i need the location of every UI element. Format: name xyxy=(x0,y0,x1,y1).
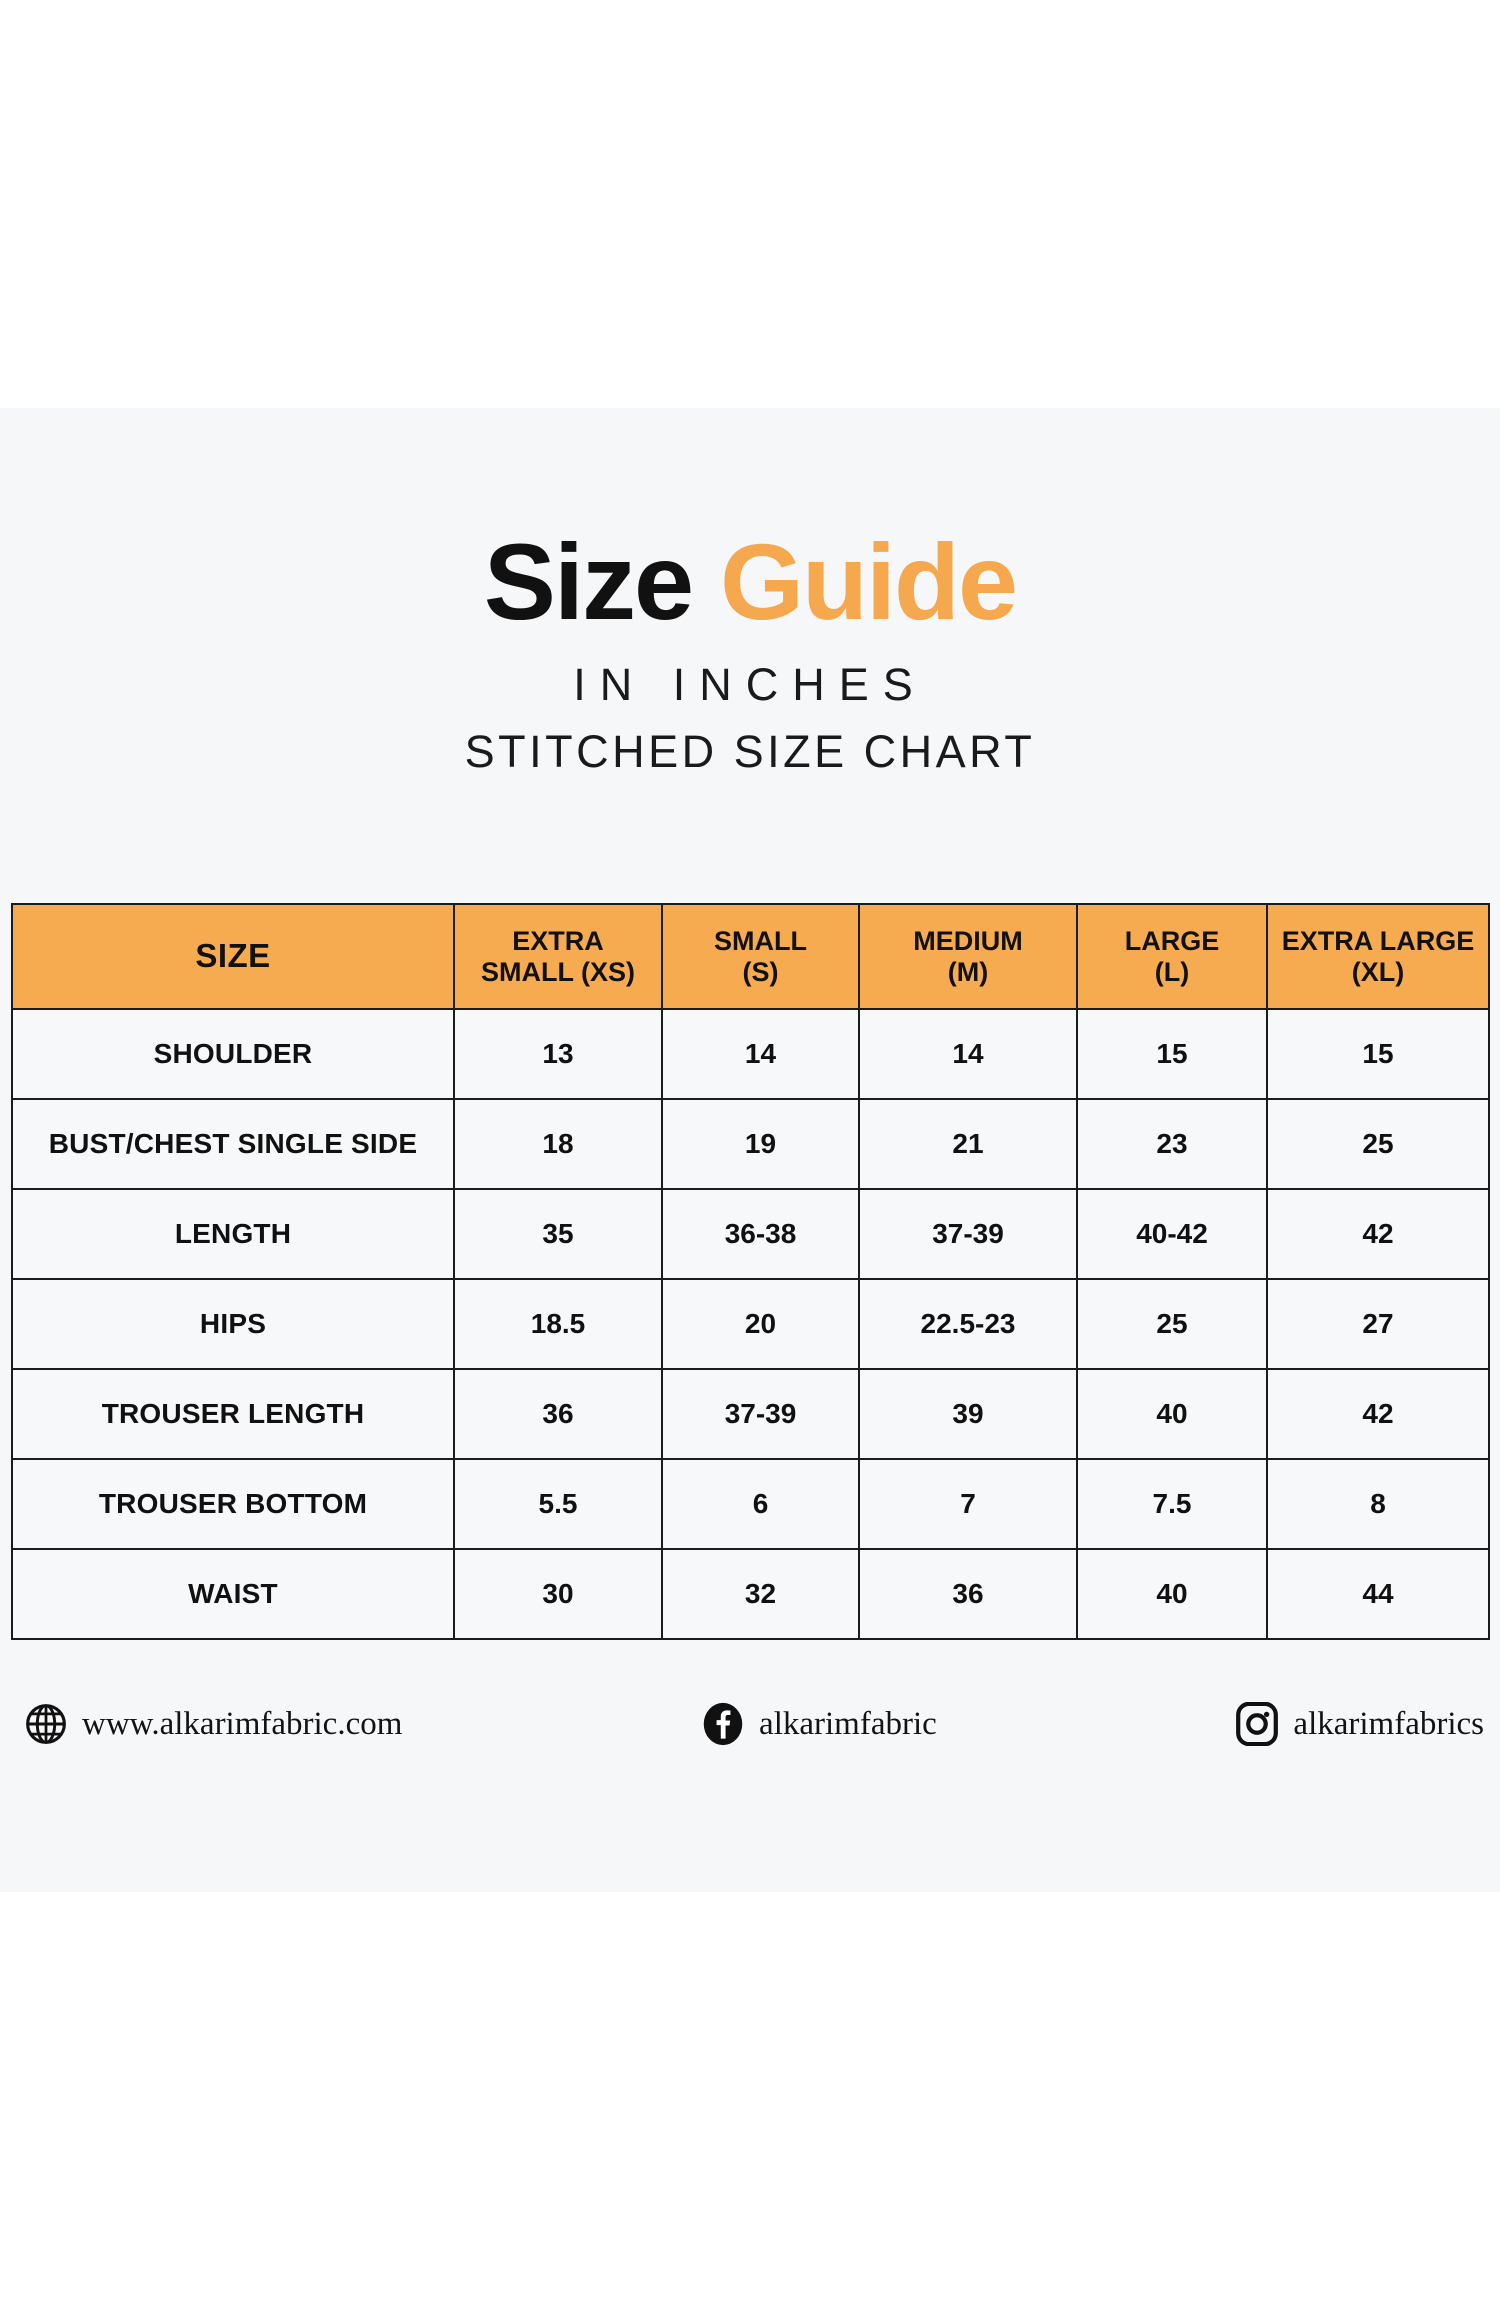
cell-value: 36-38 xyxy=(662,1189,859,1279)
table-row: WAIST 30 32 36 40 44 xyxy=(12,1549,1489,1639)
column-header-xl: EXTRA LARGE(XL) xyxy=(1267,904,1489,1009)
cell-value: 36 xyxy=(859,1549,1077,1639)
row-label: TROUSER LENGTH xyxy=(12,1369,454,1459)
table-row: TROUSER BOTTOM 5.5 6 7 7.5 8 xyxy=(12,1459,1489,1549)
cell-value: 18.5 xyxy=(454,1279,662,1369)
column-header-s-line1: SMALL xyxy=(714,926,807,956)
column-header-m-line1: MEDIUM xyxy=(913,926,1023,956)
cell-value: 30 xyxy=(454,1549,662,1639)
cell-value: 7.5 xyxy=(1077,1459,1267,1549)
table-row: SHOULDER 13 14 14 15 15 xyxy=(12,1009,1489,1099)
column-header-xl-line2: (XL) xyxy=(1352,957,1404,987)
cell-value: 19 xyxy=(662,1099,859,1189)
row-label: BUST/CHEST SINGLE SIDE xyxy=(12,1099,454,1189)
size-guide-page: Size Guide IN INCHES STITCHED SIZE CHART… xyxy=(0,0,1500,2300)
column-header-l-line2: (L) xyxy=(1155,957,1189,987)
table-row: TROUSER LENGTH 36 37-39 39 40 42 xyxy=(12,1369,1489,1459)
cell-value: 5.5 xyxy=(454,1459,662,1549)
globe-icon xyxy=(24,1702,68,1746)
facebook-label: alkarimfabric xyxy=(759,1706,937,1743)
column-header-l-line1: LARGE xyxy=(1125,926,1220,956)
column-header-s-line2: (S) xyxy=(743,957,779,987)
subtitle-units: IN INCHES xyxy=(0,662,1500,707)
column-header-size: SIZE xyxy=(12,904,454,1009)
cell-value: 40 xyxy=(1077,1369,1267,1459)
instagram-link[interactable]: alkarimfabrics xyxy=(1235,1702,1484,1746)
cell-value: 37-39 xyxy=(859,1189,1077,1279)
website-link[interactable]: www.alkarimfabric.com xyxy=(24,1702,402,1746)
cell-value: 18 xyxy=(454,1099,662,1189)
cell-value: 27 xyxy=(1267,1279,1489,1369)
instagram-icon xyxy=(1235,1702,1279,1746)
cell-value: 15 xyxy=(1077,1009,1267,1099)
cell-value: 23 xyxy=(1077,1099,1267,1189)
cell-value: 7 xyxy=(859,1459,1077,1549)
cell-value: 42 xyxy=(1267,1369,1489,1459)
cell-value: 6 xyxy=(662,1459,859,1549)
table-header-row: SIZE EXTRASMALL (XS) SMALL(S) MEDIUM(M) … xyxy=(12,904,1489,1009)
column-header-s: SMALL(S) xyxy=(662,904,859,1009)
cell-value: 40 xyxy=(1077,1549,1267,1639)
page-title-accent-word: Guide xyxy=(720,521,1016,642)
row-label: TROUSER BOTTOM xyxy=(12,1459,454,1549)
column-header-l: LARGE(L) xyxy=(1077,904,1267,1009)
footer: www.alkarimfabric.com alkarimfabric alka… xyxy=(11,1702,1488,1746)
cell-value: 44 xyxy=(1267,1549,1489,1639)
cell-value: 39 xyxy=(859,1369,1077,1459)
cell-value: 32 xyxy=(662,1549,859,1639)
row-label: LENGTH xyxy=(12,1189,454,1279)
cell-value: 25 xyxy=(1267,1099,1489,1189)
cell-value: 21 xyxy=(859,1099,1077,1189)
website-label: www.alkarimfabric.com xyxy=(82,1706,402,1743)
cell-value: 8 xyxy=(1267,1459,1489,1549)
row-label: SHOULDER xyxy=(12,1009,454,1099)
facebook-icon xyxy=(701,1702,745,1746)
table-row: BUST/CHEST SINGLE SIDE 18 19 21 23 25 xyxy=(12,1099,1489,1189)
column-header-xl-line1: EXTRA LARGE xyxy=(1282,926,1475,956)
cell-value: 35 xyxy=(454,1189,662,1279)
column-header-m: MEDIUM(M) xyxy=(859,904,1077,1009)
size-table-wrap: SIZE EXTRASMALL (XS) SMALL(S) MEDIUM(M) … xyxy=(11,903,1488,1640)
cell-value: 15 xyxy=(1267,1009,1489,1099)
title-block: Size Guide IN INCHES STITCHED SIZE CHART xyxy=(0,528,1500,774)
row-label: HIPS xyxy=(12,1279,454,1369)
cell-value: 25 xyxy=(1077,1279,1267,1369)
cell-value: 40-42 xyxy=(1077,1189,1267,1279)
page-title: Size Guide xyxy=(0,528,1500,636)
instagram-label: alkarimfabrics xyxy=(1293,1706,1484,1743)
page-title-black: Size xyxy=(484,521,692,642)
table-row: LENGTH 35 36-38 37-39 40-42 42 xyxy=(12,1189,1489,1279)
column-header-xs-line2: SMALL (XS) xyxy=(481,957,635,987)
facebook-link[interactable]: alkarimfabric xyxy=(402,1702,1235,1746)
cell-value: 36 xyxy=(454,1369,662,1459)
subtitle-chart-type: STITCHED SIZE CHART xyxy=(0,729,1500,774)
cell-value: 22.5-23 xyxy=(859,1279,1077,1369)
cell-value: 37-39 xyxy=(662,1369,859,1459)
page-title-accent xyxy=(692,521,720,642)
cell-value: 13 xyxy=(454,1009,662,1099)
table-row: HIPS 18.5 20 22.5-23 25 27 xyxy=(12,1279,1489,1369)
table-header: SIZE EXTRASMALL (XS) SMALL(S) MEDIUM(M) … xyxy=(12,904,1489,1009)
column-header-m-line2: (M) xyxy=(948,957,988,987)
column-header-xs: EXTRASMALL (XS) xyxy=(454,904,662,1009)
size-chart-table: SIZE EXTRASMALL (XS) SMALL(S) MEDIUM(M) … xyxy=(11,903,1490,1640)
cell-value: 20 xyxy=(662,1279,859,1369)
cell-value: 42 xyxy=(1267,1189,1489,1279)
cell-value: 14 xyxy=(662,1009,859,1099)
column-header-size-label: SIZE xyxy=(195,937,270,974)
table-body: SHOULDER 13 14 14 15 15 BUST/CHEST SINGL… xyxy=(12,1009,1489,1639)
column-header-xs-line1: EXTRA xyxy=(512,926,604,956)
cell-value: 14 xyxy=(859,1009,1077,1099)
row-label: WAIST xyxy=(12,1549,454,1639)
